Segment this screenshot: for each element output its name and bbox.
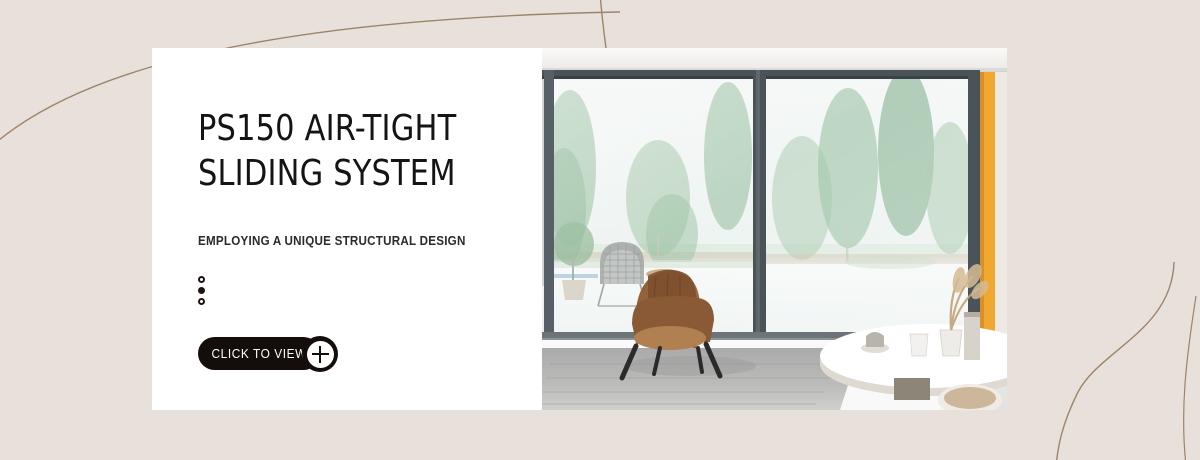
plus-icon-glyph <box>307 341 334 368</box>
cta-button-label: CLICK TO VIEW <box>211 347 306 361</box>
product-photo <box>540 48 1007 410</box>
card-inner: PS150 AIR-TIGHT SLIDING SYSTEM EMPLOYING… <box>198 106 528 373</box>
content-card: PS150 AIR-TIGHT SLIDING SYSTEM EMPLOYING… <box>152 48 542 410</box>
cta-group: CLICK TO VIEW <box>198 337 353 373</box>
product-photo-illustration <box>540 48 1007 410</box>
subtitle-text: EMPLOYING A UNIQUE STRUCTURAL DESIGN <box>198 234 505 248</box>
dot-icon-2 <box>198 287 205 294</box>
decor-curve-far-right <box>1184 296 1196 460</box>
side-cabinet <box>964 312 980 360</box>
decor-curve-right-s <box>1056 262 1174 460</box>
dot-icon-1 <box>198 276 205 283</box>
ceiling <box>540 48 1007 70</box>
page-title: PS150 AIR-TIGHT SLIDING SYSTEM <box>198 106 508 196</box>
dots-indicator <box>198 276 206 305</box>
plus-icon[interactable] <box>302 336 338 372</box>
dot-icon-3 <box>198 298 205 305</box>
